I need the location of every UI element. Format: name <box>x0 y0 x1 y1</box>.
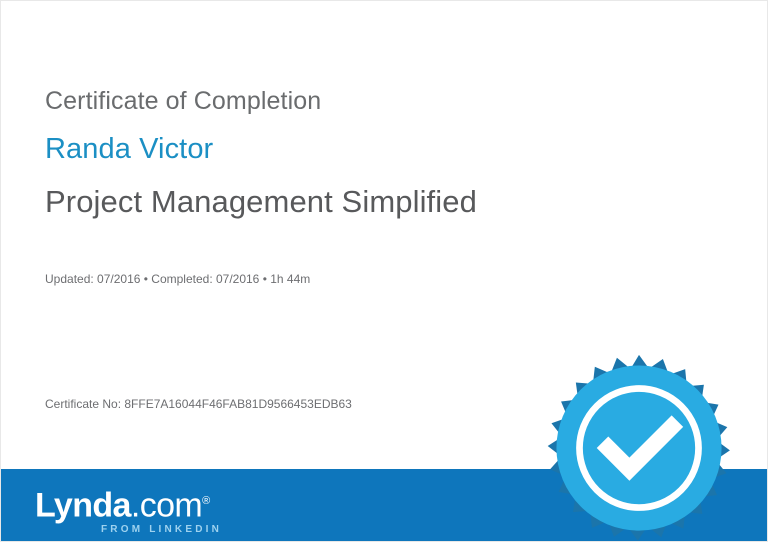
checkmark-seal-icon <box>543 353 735 542</box>
course-title: Project Management Simplified <box>45 184 477 220</box>
completion-seal <box>543 353 735 515</box>
recipient-name: Randa Victor <box>45 133 213 166</box>
lynda-logo-wordmark: Lynda.com® <box>35 483 222 523</box>
registered-trademark-icon: ® <box>202 495 210 507</box>
course-meta-line: Updated: 07/2016 • Completed: 07/2016 • … <box>45 272 310 286</box>
certificate-page: Certificate of Completion Randa Victor P… <box>0 0 768 542</box>
lynda-logo: Lynda.com® FROM LINKEDIN <box>35 483 222 531</box>
lynda-logo-dotcom: .com <box>131 486 202 524</box>
page-title: Certificate of Completion <box>45 87 321 116</box>
lynda-logo-brand: Lynda <box>35 486 131 524</box>
certificate-number: Certificate No: 8FFE7A16044F46FAB81D9566… <box>45 397 352 411</box>
lynda-logo-tagline: FROM LINKEDIN <box>101 524 222 535</box>
